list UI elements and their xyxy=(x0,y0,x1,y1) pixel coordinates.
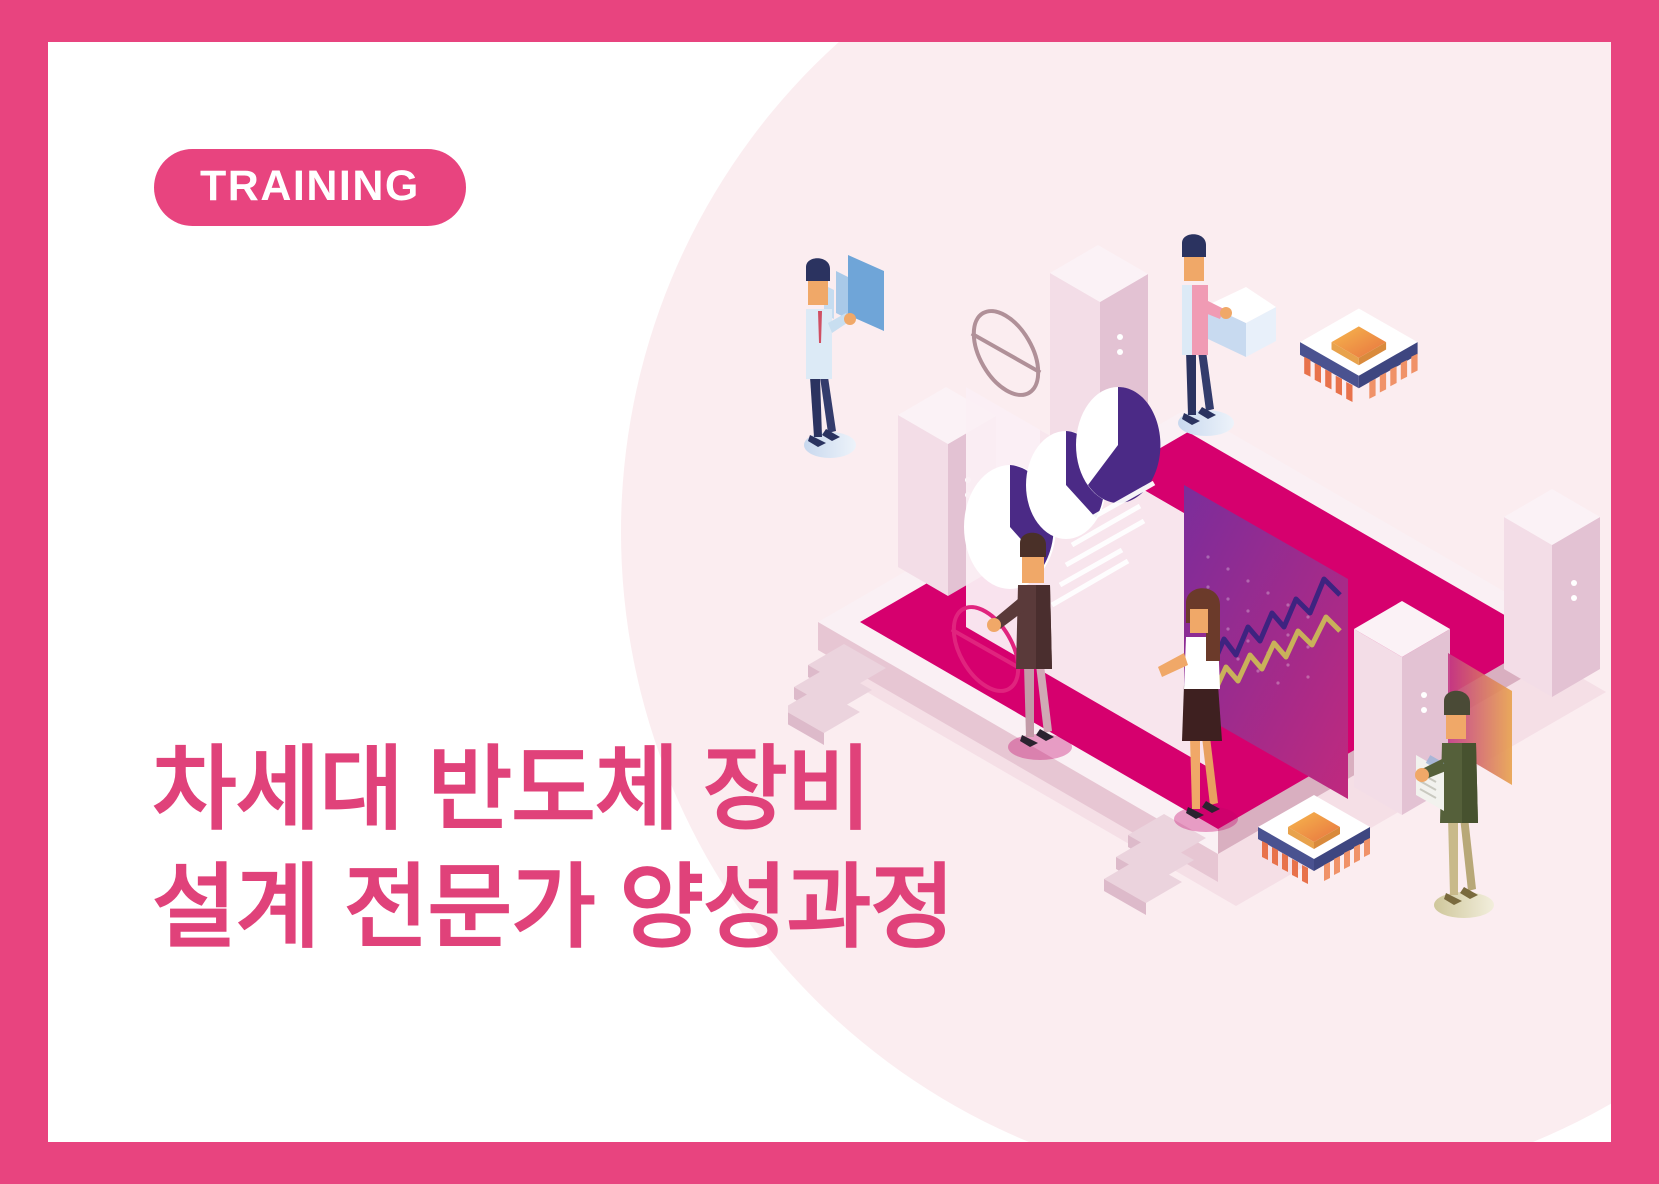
microchip-icon-top xyxy=(1300,309,1418,402)
ellipse-ring-grey xyxy=(960,300,1051,406)
isometric-illustration xyxy=(788,227,1611,947)
promo-banner: TRAINING 차세대 반도체 장비 설계 전문가 양성과정 xyxy=(0,0,1659,1184)
person-with-tablet xyxy=(804,255,884,458)
person-carrying-box xyxy=(1178,234,1276,436)
training-badge: TRAINING xyxy=(154,149,466,226)
server-rack-far-right xyxy=(1504,489,1600,697)
banner-inner-surface: TRAINING 차세대 반도체 장비 설계 전문가 양성과정 xyxy=(48,42,1611,1142)
